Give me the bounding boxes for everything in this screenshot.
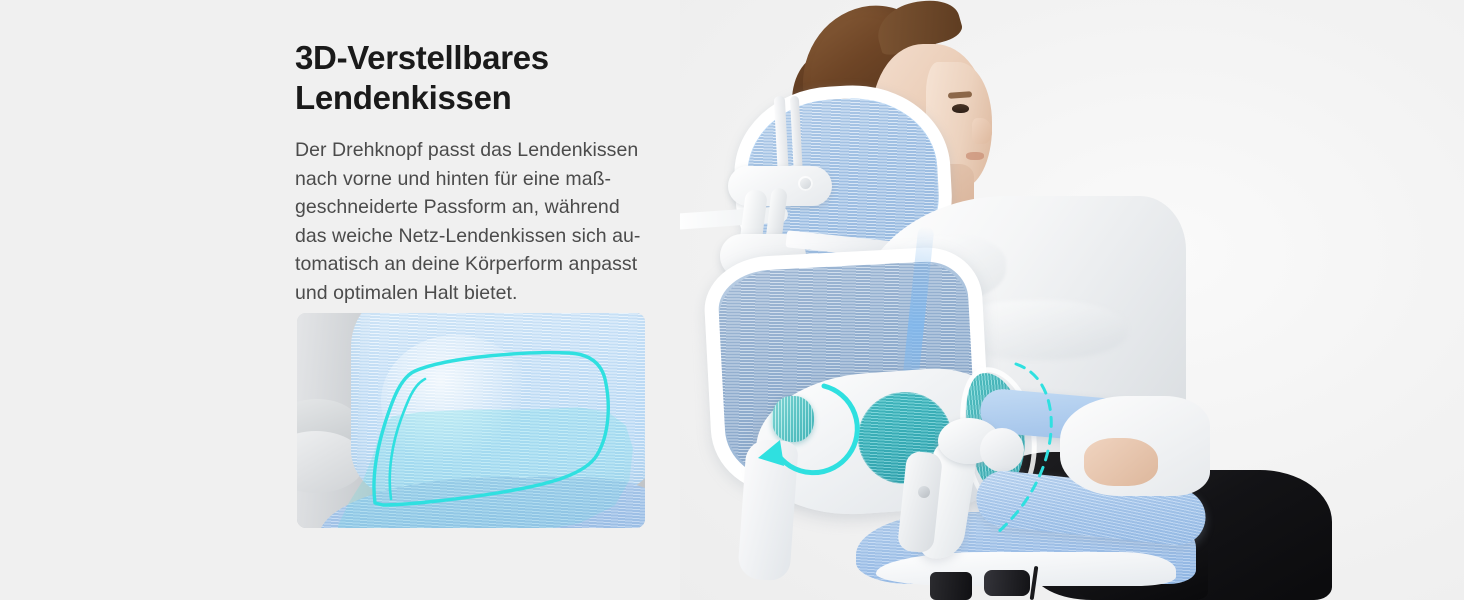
inset-lumbar-outline-annotation: [297, 313, 645, 528]
height-adjust-lever: [984, 570, 1030, 596]
knob-grip-ridges: [772, 396, 814, 442]
hero-product-image: [680, 0, 1464, 600]
feature-headline: 3D-Verstellbares Lendenkissen: [295, 38, 690, 118]
lumbar-closeup-inset-image: [297, 313, 645, 528]
lumbar-adjustment-knob[interactable]: [772, 396, 814, 442]
eye: [952, 104, 969, 113]
armrest-joint-2: [980, 428, 1024, 472]
headrest-pivot-screw: [798, 176, 813, 191]
product-feature-banner: 3D-Verstellbares Lendenkissen Der Drehkn…: [0, 0, 1464, 600]
front-chair-arm-stub: [737, 438, 799, 581]
feature-text-column: 3D-Verstellbares Lendenkissen Der Drehkn…: [295, 38, 690, 307]
feature-description: Der Drehknopf passt das Lendenkissen nac…: [295, 136, 690, 307]
forearm-hand: [1084, 438, 1158, 486]
armrest-screw: [918, 486, 930, 498]
nose: [972, 118, 992, 144]
gas-cylinder: [930, 572, 972, 600]
lips: [966, 152, 984, 160]
